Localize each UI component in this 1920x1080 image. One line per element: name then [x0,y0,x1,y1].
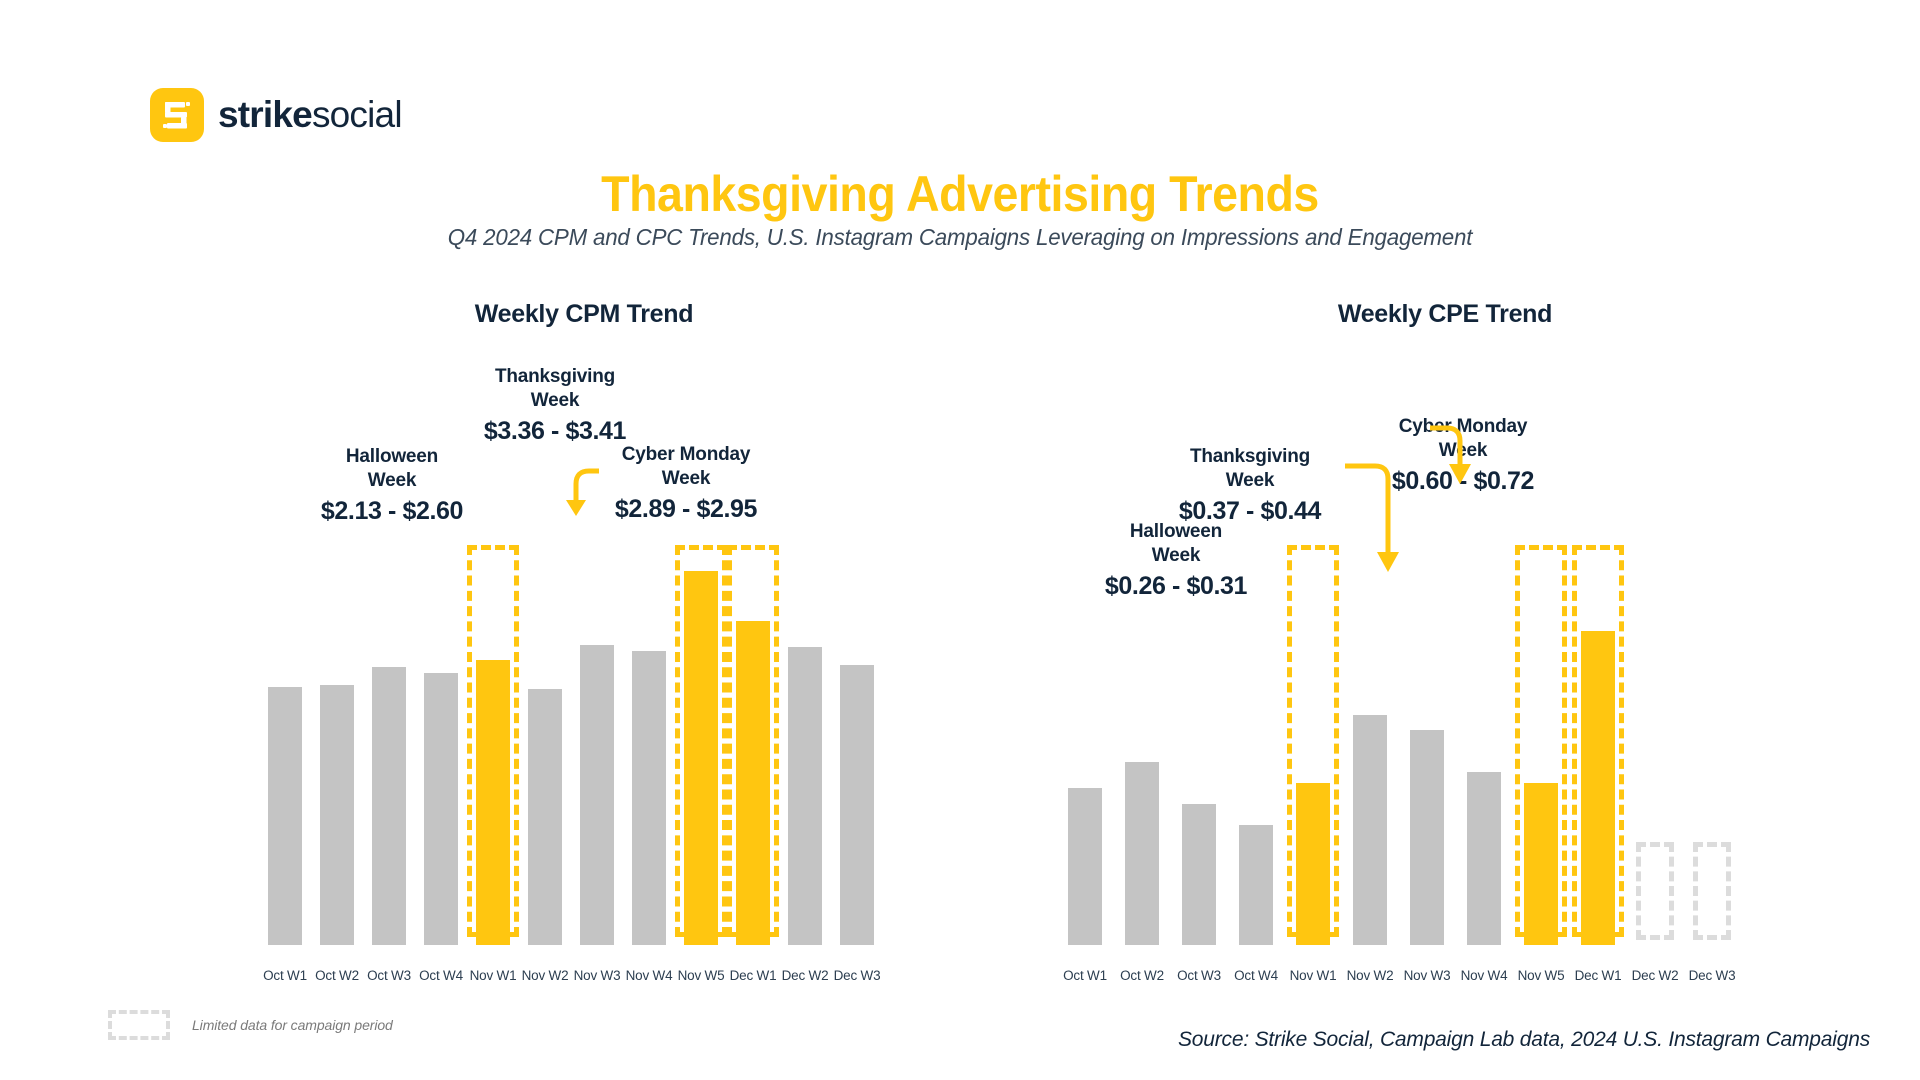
highlight-outline-nov-w1 [1287,545,1339,937]
callout-value: $2.89 - $2.95 [556,495,816,524]
bar-nov-w4 [1467,772,1501,945]
callout-thanksgiving: ThanksgivingWeek$3.36 - $3.41 [425,365,685,446]
bar-chart-cpe: Oct W1Oct W2Oct W3Oct W4Nov W1Nov W2Nov … [1000,300,1760,1000]
bar-oct-w3 [1182,804,1216,945]
callout-label-line1: Cyber Monday [556,443,816,467]
bar-dec-w2 [788,647,822,945]
x-axis-label-dec-w3: Dec W3 [1672,968,1752,983]
callout-value: $0.60 - $0.72 [1333,467,1593,496]
bar-nov-w3 [1410,730,1444,945]
callout-label: Cyber MondayWeek [556,443,816,491]
bar-chart-cpm: Oct W1Oct W2Oct W3Oct W4Nov W1Nov W2Nov … [180,300,880,1000]
bar-nov-w4 [632,651,666,945]
highlight-outline-nov-w5 [675,545,727,937]
callout-cyber-monday: Cyber MondayWeek$2.89 - $2.95 [556,443,816,524]
callout-halloween: HalloweenWeek$0.26 - $0.31 [1046,520,1306,601]
x-axis-label-dec-w3: Dec W3 [817,968,897,983]
callout-label-line1: Cyber Monday [1333,415,1593,439]
highlight-outline-dec-w1 [727,545,779,937]
bar-nov-w2 [1353,715,1387,945]
legend-label: Limited data for campaign period [192,1017,393,1033]
callout-label-line2: Week [1333,439,1593,463]
highlight-outline-nov-w1 [467,545,519,937]
no-data-box-dec-w3 [1693,842,1731,940]
dashed-box-icon [108,1010,170,1040]
source-note: Source: Strike Social, Campaign Lab data… [1178,1028,1870,1052]
callout-label: Cyber MondayWeek [1333,415,1593,463]
bar-oct-w2 [320,685,354,945]
callout-value: $2.13 - $2.60 [262,497,522,526]
callout-label-line2: Week [425,389,685,413]
callout-label-line2: Week [1046,544,1306,568]
bar-oct-w4 [424,673,458,945]
legend-limited-data: Limited data for campaign period [108,1010,393,1040]
callout-value: $0.26 - $0.31 [1046,572,1306,601]
chart-panel-cpe: Weekly CPE Trend Oct W1Oct W2Oct W3Oct W… [1000,300,1760,1000]
brand-wordmark: strikesocial [218,94,402,136]
bar-oct-w4 [1239,825,1273,945]
arrow-head-0 [1377,552,1399,572]
bar-oct-w2 [1125,762,1159,945]
page-subtitle: Q4 2024 CPM and CPC Trends, U.S. Instagr… [29,224,1891,251]
callout-cyber-monday: Cyber MondayWeek$0.60 - $0.72 [1333,415,1593,496]
page-title: Thanksgiving Advertising Trends [67,165,1853,223]
bar-dec-w3 [840,665,874,945]
brand-name-light: social [312,94,402,136]
callout-label: ThanksgivingWeek [425,365,685,413]
callout-label-line2: Week [262,469,522,493]
bar-oct-w3 [372,667,406,945]
callout-value: $3.36 - $3.41 [425,417,685,446]
callout-label-line1: Halloween [262,445,522,469]
bar-nov-w3 [580,645,614,945]
callout-halloween: HalloweenWeek$2.13 - $2.60 [262,445,522,526]
callout-label-line2: Week [556,467,816,491]
callout-value: $0.37 - $0.44 [1120,497,1380,526]
callout-label: HalloweenWeek [262,445,522,493]
brand-name-bold: strike [218,94,312,136]
strike-s-icon [150,88,204,142]
highlight-outline-dec-w1 [1572,545,1624,937]
highlight-outline-nov-w5 [1515,545,1567,937]
callout-label-line1: Thanksgiving [425,365,685,389]
bar-oct-w1 [268,687,302,945]
chart-panel-cpm: Weekly CPM Trend Oct W1Oct W2Oct W3Oct W… [180,300,880,1000]
bar-nov-w2 [528,689,562,945]
callout-label: HalloweenWeek [1046,520,1306,568]
bar-oct-w1 [1068,788,1102,945]
no-data-box-dec-w2 [1636,842,1674,940]
brand-logo: strikesocial [150,88,402,142]
